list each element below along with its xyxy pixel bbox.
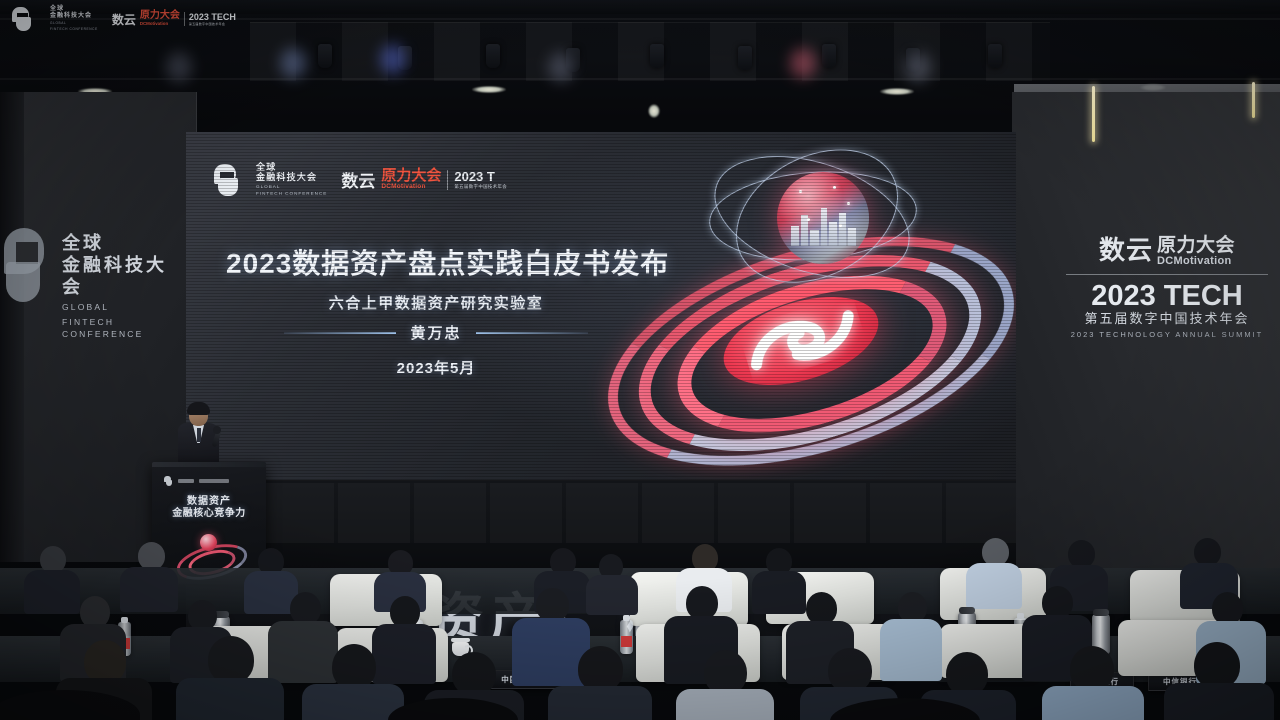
audience-person-front [1164,642,1274,720]
light-glow [905,52,931,82]
stage-light [318,44,332,68]
stage-light [650,44,664,68]
slide-logo-cn2: 金融科技大会 [256,172,327,183]
left-wall-en-line1: GLOBAL [62,301,178,313]
ceiling-lamp [472,86,506,93]
truss-bar-lower [0,78,1280,80]
watermark-brand-yuan: 原力大会 [140,11,180,21]
slide-brand-year: 2023 T [454,170,507,184]
left-wall-cn-line1: 全球 [62,232,178,254]
stage-light [822,44,836,68]
audience-person [586,554,638,612]
slide-presenter-row: 黄万忠 [226,322,646,343]
slide-logo-en1: GLOBAL [256,184,327,190]
right-wall-signage: 数云 原力大会 DCMotivation 2023 TECH 第五届数字中国技术… [1062,230,1272,340]
right-wall-brand-su: 数云 [1099,230,1153,267]
left-wall-cn-line2: 金融科技大会 [62,254,178,298]
watermark-year: 2023 TECH [189,12,236,22]
fintech-logo-mark-icon [4,228,50,304]
speaker-person [176,404,220,466]
light-glow [280,48,306,78]
broadcast-watermark: 全球 金融科技大会 GLOBAL FINTECH CONFERENCE 数云 原… [10,6,236,32]
slide-presenter-name: 黄万忠 [410,322,461,343]
audience-person-front [302,644,404,720]
audience-person-front [548,646,652,720]
audience-person-front [176,636,284,720]
presenter-rule-right [476,332,588,334]
slide-brand-su: 数云 [341,167,375,192]
podium-logo-bar [164,476,229,486]
right-wall-en-subtitle: 2023 TECHNOLOGY ANNUAL SUMMIT [1062,329,1272,340]
led-light-strip [1092,86,1095,142]
watermark-org-text: 全球 金融科技大会 GLOBAL FINTECH CONFERENCE [50,6,98,31]
right-wall-divider [1066,274,1268,275]
slide-event-wordmark: 数云 原力大会 DCMotivation 2023 T 第五届数字中国技术年会 [341,167,507,192]
watermark-brand-dc: DCMotivation [140,21,180,27]
slide-title: 2023数据资产盘点实践白皮书发布 [226,242,646,282]
slide-logo-divider [447,170,448,190]
conference-hall-photo: 全球 金融科技大会 GLOBAL FINTECH CONFERENCE 数云 原… [0,0,1280,720]
slide-date: 2023年5月 [226,357,646,378]
slide-fintech-wordmark: 全球 金融科技大会 GLOBAL FINTECH CONFERENCE [256,162,327,197]
slide-brand-yuan: 原力大会 [381,168,441,183]
slide-subtitle: 六合上甲数据资产研究实验室 [226,292,646,313]
light-glow [380,44,406,74]
right-wall-brand-dc: DCMotivation [1157,255,1235,267]
slide-logo-cn1: 全球 [256,162,327,172]
podium-logo-mark-icon [164,476,173,486]
led-light-strip [1252,82,1255,118]
ceiling-lamp [880,88,914,95]
audience-area: 中国进出口银行 中信银行 中信银行 [0,520,1280,720]
fintech-logo-mark-icon [212,164,242,196]
city-skyline-icon [791,202,857,246]
slide-brand-dc: DCMotivation [381,183,441,191]
main-led-screen: 全球 金融科技大会 GLOBAL FINTECH CONFERENCE 数云 原… [186,132,1016,480]
right-wall-tech-year: 2023 TECH [1062,281,1272,311]
stage-light [486,44,500,68]
watermark-divider [184,12,185,26]
audience-person-front [676,650,774,720]
watermark-en2: FINTECH CONFERENCE [50,27,98,32]
slide-brand-year-sub: 第五届数字中国技术年会 [454,184,507,190]
slide-logo-bar: 全球 金融科技大会 GLOBAL FINTECH CONFERENCE 数云 原… [212,162,507,197]
slide-logo-en2: FINTECH CONFERENCE [256,191,327,197]
light-glow [166,52,192,82]
stage-light [988,44,1002,68]
podium-line2: 金融核心竞争力 [152,504,266,519]
left-wall-signage: 全球 金融科技大会 GLOBAL FINTECH CONFERENCE [18,232,178,340]
audience-person [966,538,1022,608]
city-sphere [777,172,869,264]
tea-cup-lid [451,638,470,642]
watermark-en1: GLOBAL [50,21,98,26]
light-glow [548,52,574,82]
watermark-fintech-logo-icon [10,6,36,32]
light-glow [790,48,816,78]
watermark-brand-su: 数云 [112,11,136,28]
watermark-event-logo: 数云 原力大会 DCMotivation 2023 TECH 第五届数字中国技术… [112,11,236,28]
right-wall-cn-subtitle: 第五届数字中国技术年会 [1062,311,1272,327]
hanging-light [648,104,660,118]
stage-light [738,46,752,70]
watermark-year-sub: 第五届数字中国技术年会 [189,22,236,26]
audience-person-front [1042,646,1144,720]
right-wall-brand-yuan: 原力大会 [1157,236,1235,255]
left-wall-en-line2: FINTECH CONFERENCE [62,316,178,340]
watermark-cn2: 金融科技大会 [50,13,98,20]
presenter-rule-left [284,332,396,334]
